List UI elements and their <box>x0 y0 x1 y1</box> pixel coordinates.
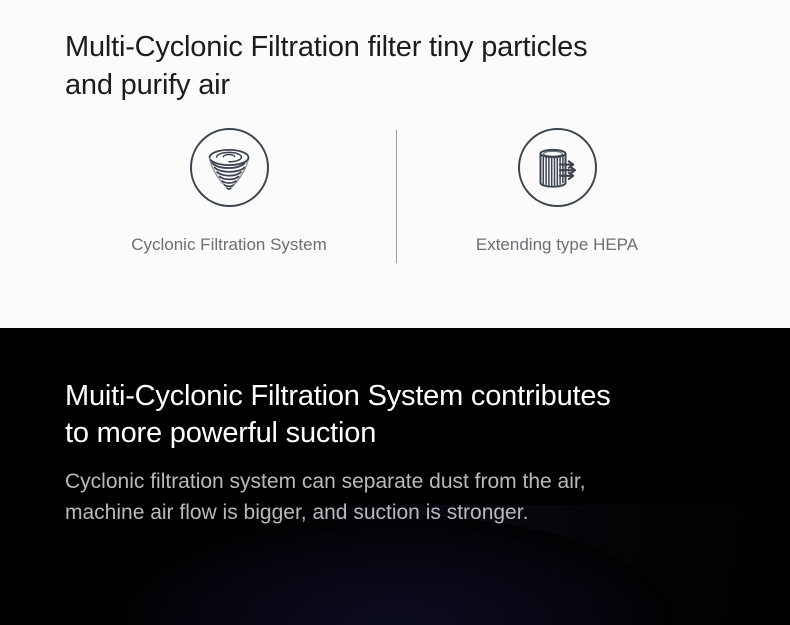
feature-vertical-divider <box>396 130 397 263</box>
powerful-suction-dark-section: Muiti-Cyclonic Filtration System contrib… <box>0 328 790 625</box>
cyclone-icon <box>190 128 269 207</box>
cyclonic-filtration-light-section: Multi-Cyclonic Filtration filter tiny pa… <box>0 0 790 328</box>
light-section-headline: Multi-Cyclonic Filtration filter tiny pa… <box>65 28 745 104</box>
dark-section-headline: Muiti-Cyclonic Filtration System contrib… <box>65 378 765 452</box>
feature-item-extending-hepa: Extending type HEPA <box>392 128 722 256</box>
product-feature-page: Multi-Cyclonic Filtration filter tiny pa… <box>0 0 790 625</box>
hepa-filter-icon <box>518 128 597 207</box>
feature-item-cyclonic-filtration: Cyclonic Filtration System <box>64 128 394 256</box>
feature-row: Cyclonic Filtration System <box>0 128 790 273</box>
dark-section-body-text: Cyclonic filtration system can separate … <box>65 466 765 528</box>
feature-label-extending-hepa: Extending type HEPA <box>476 234 638 256</box>
feature-label-cyclonic-filtration: Cyclonic Filtration System <box>131 234 327 256</box>
background-glow <box>115 515 675 625</box>
